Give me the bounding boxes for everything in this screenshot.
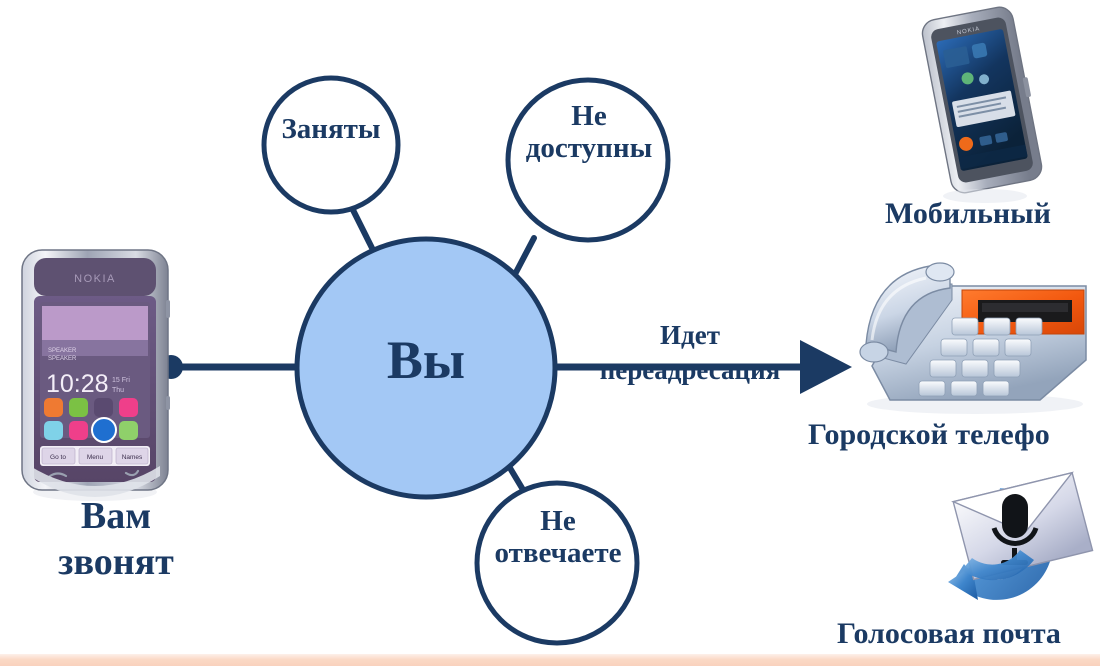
svg-text:SPEAKER: SPEAKER	[48, 348, 77, 354]
caption-mobile: Мобильный	[885, 197, 1051, 231]
svg-text:Go to: Go to	[50, 454, 66, 461]
svg-text:15 Fri: 15 Fri	[112, 377, 130, 384]
svg-text:Names: Names	[122, 454, 143, 461]
caption-landline: Городской телефо	[808, 418, 1050, 452]
svg-text:NOKIA: NOKIA	[74, 273, 116, 285]
node-busy[interactable]	[264, 78, 398, 212]
bottom-accent-strip	[0, 654, 1100, 666]
forwarding-arrow-head	[800, 340, 852, 394]
node-central-you[interactable]	[297, 239, 555, 497]
svg-text:10:28: 10:28	[46, 370, 109, 398]
desk-phone-illustration	[860, 263, 1086, 414]
svg-text:SPEAKER: SPEAKER	[48, 356, 77, 362]
diagram-canvas: NOKIA SPEAKER SPEAKER 10:28 15 Fri Thu	[0, 0, 1100, 666]
node-no-answer[interactable]	[477, 483, 637, 643]
caption-voicemail: Голосовая почта	[837, 617, 1061, 651]
incoming-phone-illustration: NOKIA SPEAKER SPEAKER 10:28 15 Fri Thu	[22, 250, 170, 501]
connector-unavailable	[513, 238, 534, 278]
svg-text:Menu: Menu	[87, 454, 104, 461]
node-unavailable[interactable]	[508, 80, 668, 240]
mobile-phone-illustration: NOKIA	[920, 4, 1047, 203]
caption-incoming-call: Вам звонят	[16, 493, 216, 586]
voicemail-illustration	[948, 471, 1094, 600]
svg-text:Thu: Thu	[112, 387, 124, 394]
